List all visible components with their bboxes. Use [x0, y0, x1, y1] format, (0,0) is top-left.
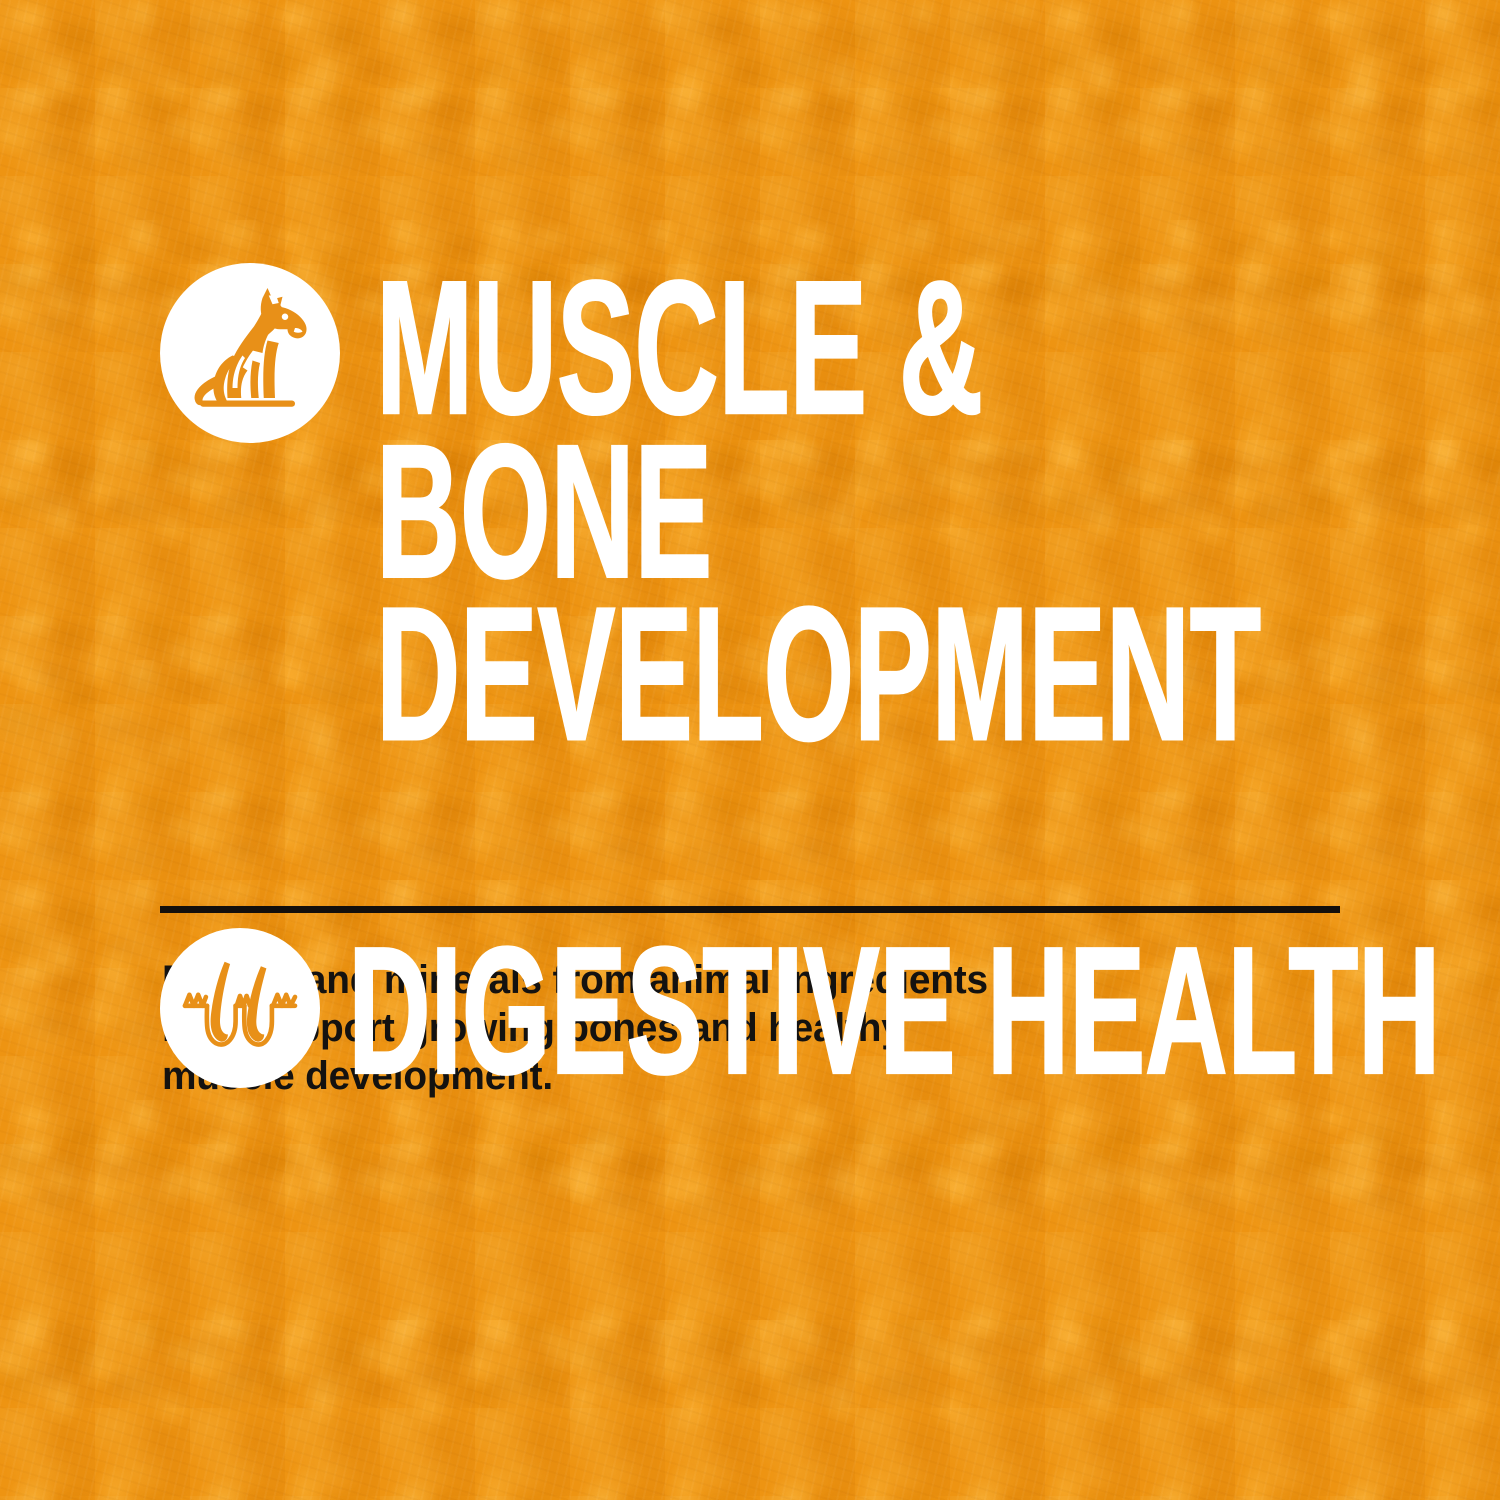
section-muscle-bone: MUSCLE & BONE DEVELOPMENT Protein and mi…	[0, 258, 1500, 643]
section-header-digestive-health: DIGESTIVE HEALTH	[0, 920, 1500, 1088]
section-header-muscle-bone: MUSCLE & BONE DEVELOPMENT	[0, 258, 1500, 643]
headline-muscle-bone: MUSCLE & BONE DEVELOPMENT	[376, 266, 1304, 756]
headline-line-1: MUSCLE & BONE	[376, 266, 1304, 592]
sitting-dog-icon	[160, 263, 340, 443]
intestinal-villi-icon	[160, 928, 320, 1088]
panel-content: MUSCLE & BONE DEVELOPMENT Protein and mi…	[0, 0, 1500, 1500]
headline-digestive-health: DIGESTIVE HEALTH	[348, 934, 1440, 1089]
benefits-panel: MUSCLE & BONE DEVELOPMENT Protein and mi…	[0, 0, 1500, 1500]
section-digestive-health: DIGESTIVE HEALTH Fiber, plus a blend of …	[0, 920, 1500, 1088]
headline-line-2: DEVELOPMENT	[376, 592, 1304, 755]
